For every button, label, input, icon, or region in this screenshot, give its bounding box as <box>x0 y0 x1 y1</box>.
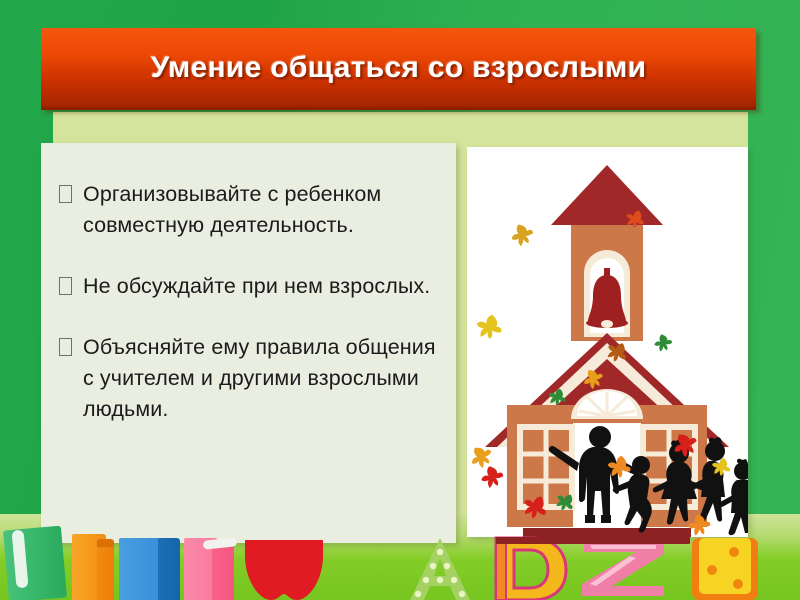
title-banner: Умение общаться со взрослыми <box>41 28 756 110</box>
missing-glyph-bullet-icon <box>59 277 72 295</box>
book-orange-spine <box>97 540 114 600</box>
decorative-letter-d <box>488 536 570 600</box>
book-blue-spine <box>158 538 180 600</box>
book-pink-spine <box>212 542 234 600</box>
slide-canvas: Умение общаться со взрослыми Организовыв… <box>0 0 800 600</box>
bottom-decoration-layer <box>0 514 800 600</box>
schoolhouse-illustration <box>467 147 748 537</box>
ruler <box>496 537 690 544</box>
red-apple-icon <box>243 538 325 600</box>
bullet-text: Организовывайте с ребенком совместную де… <box>83 179 440 241</box>
content-text-box: Организовывайте с ребенком совместную де… <box>41 143 456 543</box>
decorative-letter-z <box>578 540 670 598</box>
page-title: Умение общаться со взрослыми <box>151 51 647 85</box>
autumn-leaf <box>653 333 673 353</box>
list-item: Организовывайте с ребенком совместную де… <box>59 179 440 241</box>
illustration-panel <box>467 147 748 537</box>
list-item: Объясняйте ему правила общения с учителе… <box>59 332 440 425</box>
bullet-text: Не обсуждайте при нем взрослых. <box>83 271 430 302</box>
autumn-leaf <box>508 221 536 248</box>
book-blue <box>119 538 163 600</box>
book-orange-top <box>97 539 114 547</box>
decorative-letter-a <box>398 538 482 600</box>
inner-panel-top-band <box>53 112 748 147</box>
bullet-text: Объясняйте ему правила общения с учителе… <box>83 332 440 425</box>
missing-glyph-bullet-icon <box>59 338 72 356</box>
tower-roof-icon <box>551 165 663 225</box>
missing-glyph-bullet-icon <box>59 185 72 203</box>
autumn-leaf <box>474 312 505 342</box>
yellow-block <box>692 538 758 600</box>
list-item: Не обсуждайте при нем взрослых. <box>59 271 440 302</box>
